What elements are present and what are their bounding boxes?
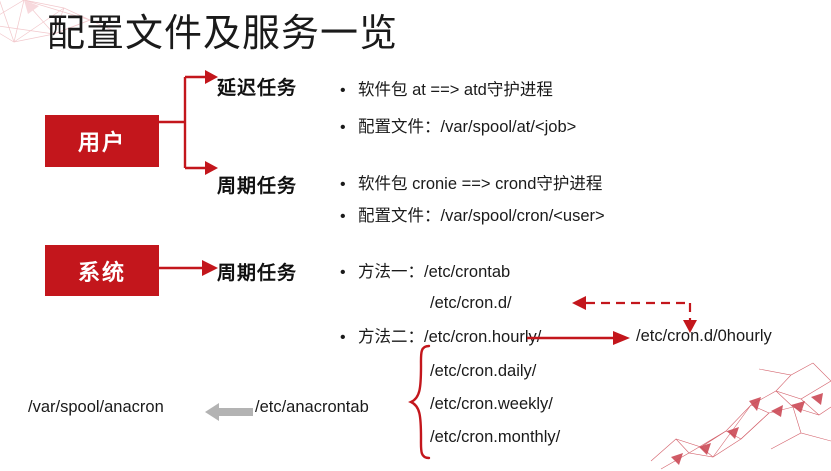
- connector-system-branch: [155, 255, 220, 281]
- bullet-cronie-package-text: 软件包 cronie ==> crond守护进程: [358, 175, 602, 193]
- bullet-dot-icon: •: [340, 328, 358, 348]
- arrowhead-left-icon: [572, 296, 586, 310]
- bullet-method-two: •方法二：/etc/cron.hourly/: [340, 327, 541, 348]
- bullet-at-config-text: 配置文件：/var/spool/at/<job>: [358, 118, 576, 136]
- page-title: 配置文件及服务一览: [47, 11, 398, 57]
- branch-label-delayed-task: 延迟任务: [217, 73, 297, 100]
- bullet-dot-icon: •: [340, 118, 358, 138]
- bullet-cronie-package: •软件包 cronie ==> crond守护进程: [340, 174, 602, 195]
- bullet-dot-icon: •: [340, 175, 358, 195]
- connector-user-branch: [155, 65, 220, 180]
- label-cron-weekly: /etc/cron.weekly/: [430, 395, 553, 414]
- bullet-dot-icon: •: [340, 207, 358, 227]
- bullet-cron-config-text: 配置文件：/var/spool/cron/<user>: [358, 207, 605, 225]
- arrowhead-down-icon: [683, 320, 697, 333]
- arrowhead-right-icon: [202, 260, 218, 276]
- bullet-at-config: •配置文件：/var/spool/at/<job>: [340, 117, 576, 138]
- bullet-method-one-text: 方法一：/etc/crontab: [358, 263, 510, 281]
- bullet-method-two-text: 方法二：/etc/cron.hourly/: [358, 328, 541, 346]
- curly-brace: [408, 344, 432, 460]
- node-user-label: 用户: [78, 125, 126, 157]
- label-cron-monthly: /etc/cron.monthly/: [430, 428, 560, 447]
- bullet-at-package-text: 软件包 at ==> atd守护进程: [358, 81, 553, 99]
- bullet-at-package: •软件包 at ==> atd守护进程: [340, 80, 553, 101]
- bullet-method-one-sub: /etc/cron.d/: [430, 294, 512, 313]
- bullet-method-one: •方法一：/etc/crontab: [340, 262, 510, 283]
- arrow-anacron-gray: [205, 402, 253, 422]
- branch-label-periodic-task-system: 周期任务: [217, 258, 297, 285]
- node-system-box[interactable]: 系统: [45, 245, 159, 296]
- bullet-dot-icon: •: [340, 81, 358, 101]
- decorative-polygon-bottom-right: [641, 361, 831, 471]
- arrow-dashed-feedback: [570, 288, 705, 336]
- node-user-box[interactable]: 用户: [45, 115, 159, 167]
- branch-label-periodic-task-user: 周期任务: [217, 171, 297, 198]
- label-cron-daily: /etc/cron.daily/: [430, 362, 536, 381]
- bullet-dot-icon: •: [340, 263, 358, 283]
- label-anacron-spool: /var/spool/anacron: [28, 398, 164, 417]
- node-system-label: 系统: [78, 255, 126, 287]
- bullet-cron-config: •配置文件：/var/spool/cron/<user>: [340, 206, 605, 227]
- slide-canvas: 配置文件及服务一览 用户 系统 延迟任务 周期任务 周期任务 •软件包 at =…: [0, 0, 831, 471]
- label-anacrontab: /etc/anacrontab: [255, 398, 369, 417]
